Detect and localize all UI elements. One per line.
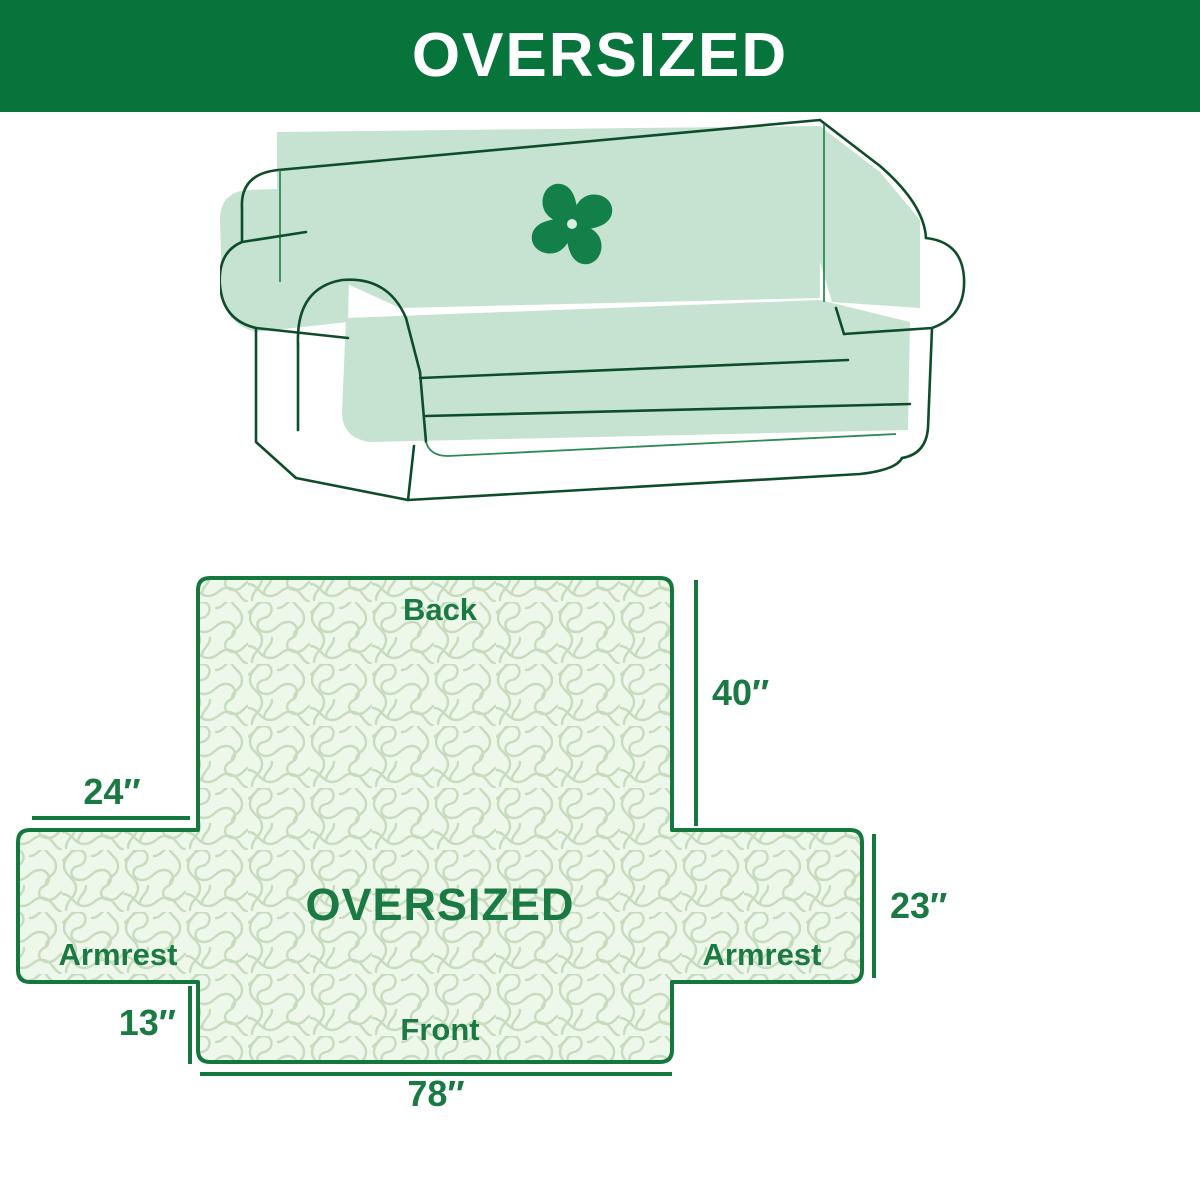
dimension-value-24: 24″	[83, 771, 140, 812]
dimension-diagram: .dimline{stroke:#14783E;stroke-width:4;s…	[0, 540, 1200, 1110]
sofa-illustration-area: .so{fill:none;stroke:#0F4D2A;stroke-widt…	[0, 112, 1200, 532]
label-armrest-left: Armrest	[59, 937, 178, 972]
label-back: Back	[403, 592, 478, 627]
dimension-front-skirt: 13″	[119, 986, 190, 1064]
dimension-total-width: 78″	[200, 1073, 672, 1110]
product-dimension-infographic: OVERSIZED .so{fill:none;stroke:#0F4D2A;s…	[0, 0, 1200, 1200]
sofa-illustration: .so{fill:none;stroke:#0F4D2A;stroke-widt…	[220, 112, 980, 512]
label-front: Front	[400, 1012, 479, 1047]
dimension-armrest-depth-top: 24″	[32, 771, 190, 818]
dimension-value-13: 13″	[119, 1002, 176, 1043]
dimension-armrest-height-right: 23″	[874, 834, 947, 978]
banner-title: OVERSIZED	[412, 25, 788, 87]
slipcover-panel	[0, 540, 1200, 1110]
label-armrest-right: Armrest	[703, 937, 822, 972]
header-banner: OVERSIZED	[0, 0, 1200, 112]
dimension-diagram-area: .dimline{stroke:#14783E;stroke-width:4;s…	[0, 540, 1200, 1120]
dimension-value-78: 78″	[407, 1073, 464, 1110]
pinwheel-fan-logo	[532, 184, 613, 265]
dimension-back-height: 40″	[696, 580, 769, 826]
dimension-value-23: 23″	[890, 885, 947, 926]
dimension-value-40: 40″	[712, 672, 769, 713]
label-center-size: OVERSIZED	[305, 879, 574, 930]
